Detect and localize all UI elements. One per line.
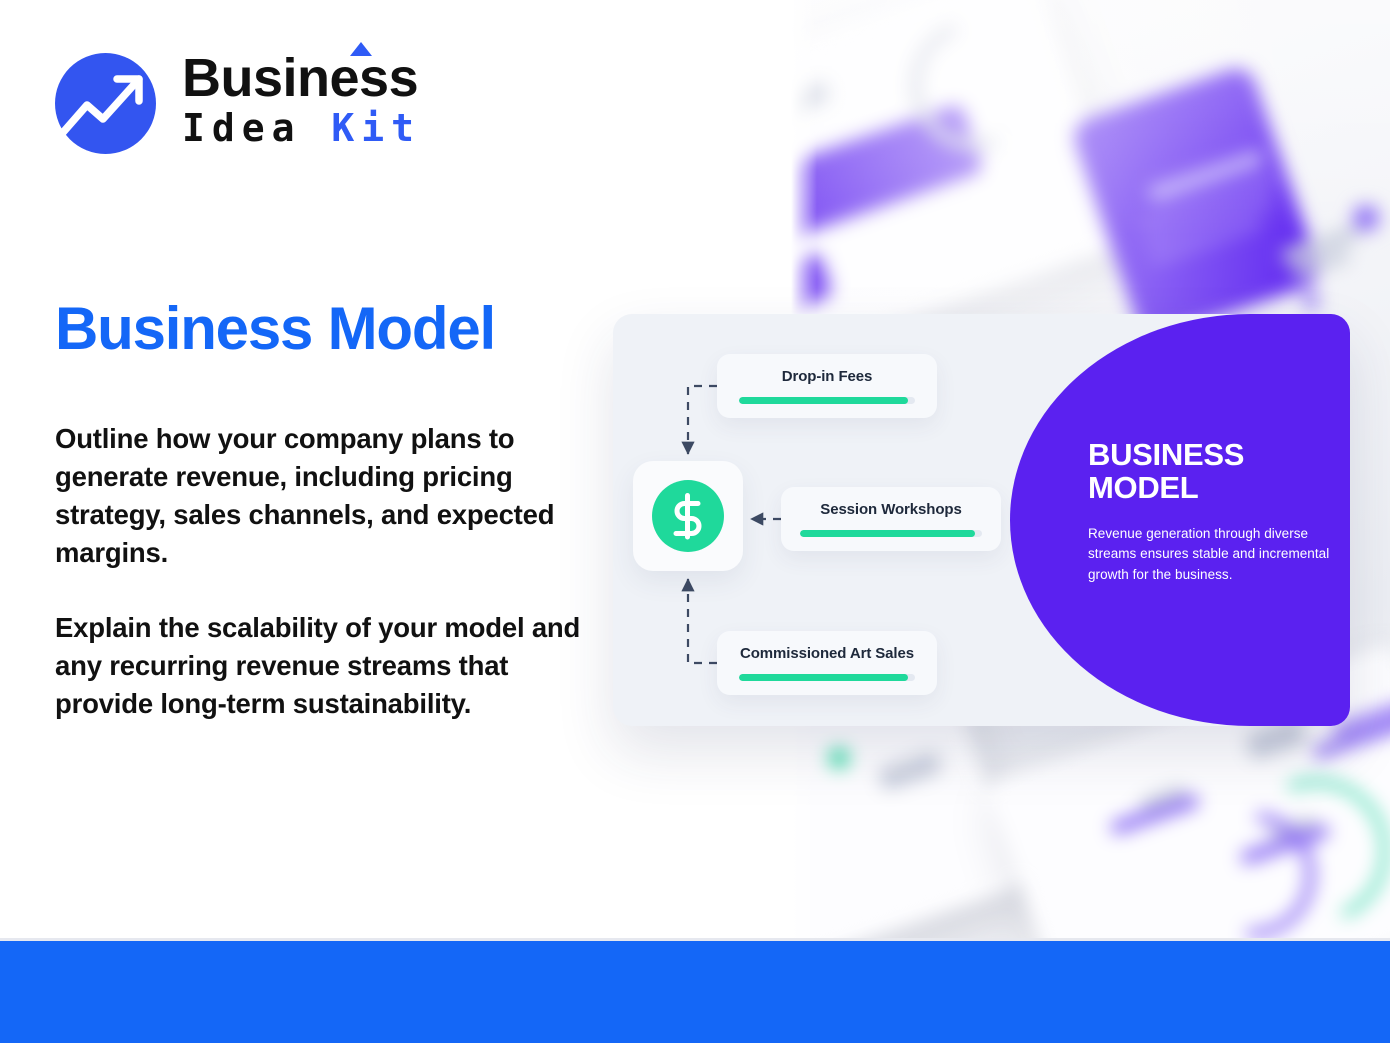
summary-title-line2: MODEL [1088,471,1338,504]
brand-name-text: Business [182,48,418,108]
stream-progress-track [739,397,915,404]
stream-label: Drop-in Fees [782,368,872,385]
revenue-stream-card[interactable]: Session Workshops [781,487,1001,551]
brand-name-kit: Kit [331,106,421,150]
stream-progress-track [739,674,915,681]
stream-progress-fill [800,530,975,537]
summary-title-line1: BUSINESS [1088,438,1338,471]
revenue-center-node[interactable] [633,461,743,571]
connector-commissioned-art-sales [688,579,717,663]
brand-name-line2: Idea Kit [182,108,421,150]
page-title: Business Model [55,297,495,360]
summary-description: Revenue generation through diverse strea… [1088,524,1331,586]
brand-name-idea: Idea [182,106,302,150]
dollar-sign-icon [652,480,724,552]
business-model-diagram-card: Drop-in Fees Session Workshops Commissio… [613,314,1350,726]
stream-progress-fill [739,397,908,404]
business-model-summary-panel: BUSINESS MODEL Revenue generation throug… [1010,314,1350,726]
trending-up-arrow-icon [55,53,156,154]
brand-wordmark: Business Idea Kit [182,51,421,150]
slide-root: Business Idea Kit Business Model Outline… [0,0,1390,1043]
chevron-accent-icon [350,42,372,56]
brand-name-line1: Business [182,51,421,106]
summary-panel-content: BUSINESS MODEL Revenue generation throug… [1088,438,1338,585]
footer-bar [0,941,1390,1043]
mockup-dot-purple-1 [1353,205,1379,231]
connector-drop-in-fees [688,386,717,454]
body-paragraph-1: Outline how your company plans to genera… [55,420,595,572]
mockup-dot-teal [829,748,849,768]
stream-progress-track [800,530,982,537]
stream-label: Commissioned Art Sales [740,645,914,662]
stream-label: Session Workshops [820,501,961,518]
brand-logo: Business Idea Kit [55,53,421,154]
revenue-stream-card[interactable]: Commissioned Art Sales [717,631,937,695]
mockup-dot-purple-2 [1303,293,1319,309]
revenue-stream-card[interactable]: Drop-in Fees [717,354,937,418]
body-paragraph-2: Explain the scalability of your model an… [55,609,595,723]
stream-progress-fill [739,674,908,681]
